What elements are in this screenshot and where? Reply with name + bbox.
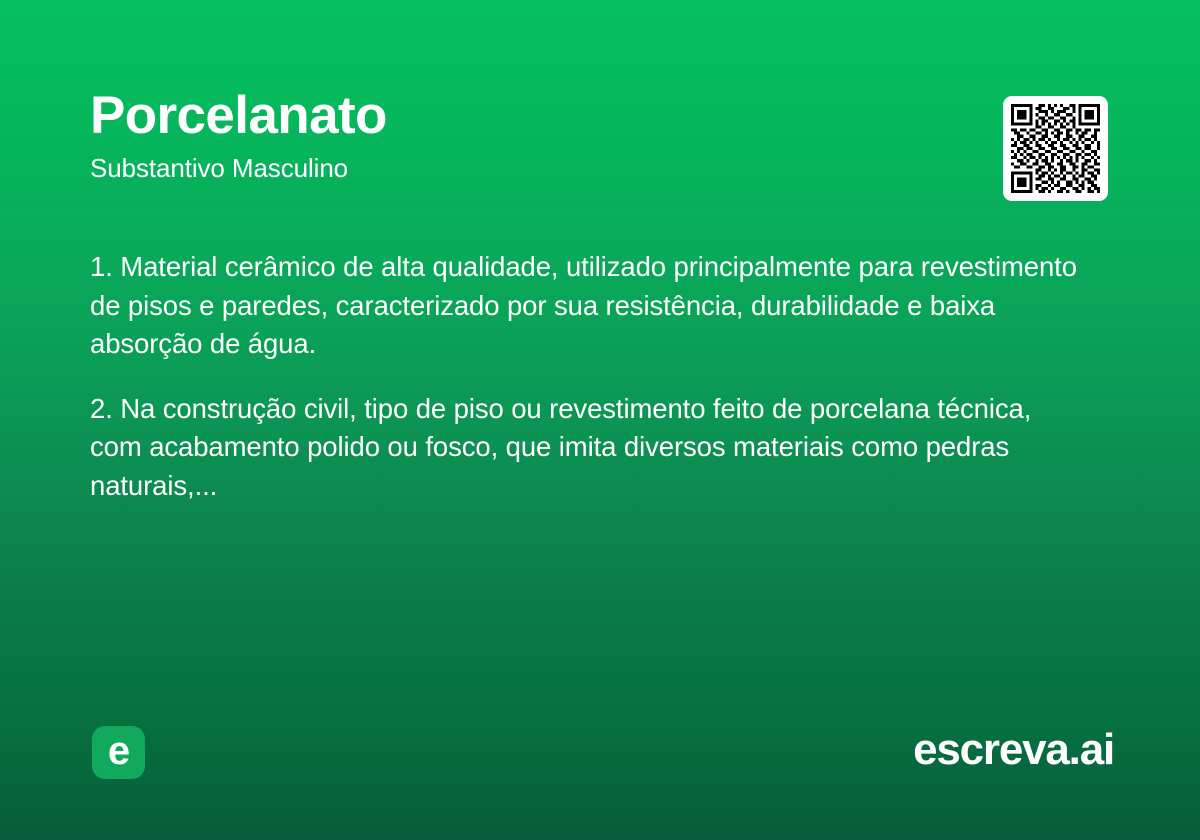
definition-list: 1. Material cerâmico de alta qualidade, … xyxy=(90,248,1082,505)
brand-wordmark: escreva.ai xyxy=(913,722,1114,778)
qr-code-icon xyxy=(1011,104,1100,193)
brand-logo-mark: e xyxy=(92,726,145,779)
definition-item: 1. Material cerâmico de alta qualidade, … xyxy=(90,248,1082,364)
qr-code-panel[interactable] xyxy=(1003,96,1108,201)
brand-logo-letter: e xyxy=(92,726,145,779)
definition-item: 2. Na construção civil, tipo de piso ou … xyxy=(90,390,1082,506)
page-title: Porcelanato xyxy=(90,86,990,146)
dictionary-card: Porcelanato Substantivo Masculino 1. Mat… xyxy=(0,0,1200,840)
card-header: Porcelanato Substantivo Masculino xyxy=(90,86,990,184)
part-of-speech-label: Substantivo Masculino xyxy=(90,152,990,184)
